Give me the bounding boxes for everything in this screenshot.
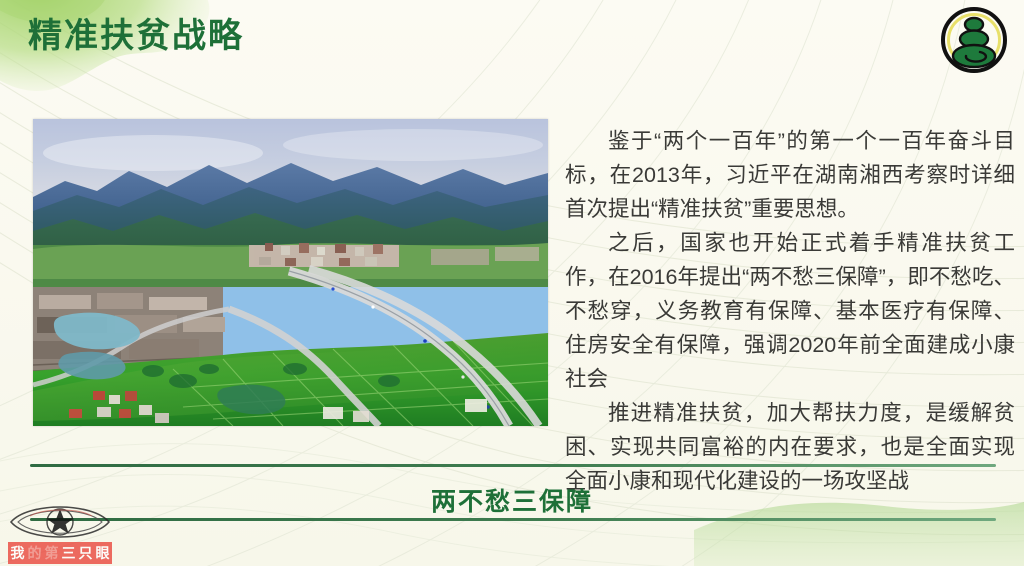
paragraph-2: 之后，国家也开始正式着手精准扶贫工作，在2016年提出“两不愁三保障”，即不愁吃…: [565, 226, 1015, 396]
body-copy: 鉴于“两个一百年”的第一个一百年奋斗目标，在2013年，习近平在湖南湘西考察时详…: [565, 124, 1015, 498]
paragraph-1: 鉴于“两个一百年”的第一个一百年奋斗目标，在2013年，习近平在湖南湘西考察时详…: [565, 124, 1015, 226]
wm-char-6: 眼: [96, 546, 110, 560]
page-title: 精准扶贫战略: [28, 16, 244, 57]
wm-char-3: 第: [45, 546, 59, 560]
divider-bottom: [30, 518, 996, 521]
watermark-band: 我 的 第 三 只 眼: [8, 542, 112, 564]
wm-char-1: 我: [11, 546, 25, 560]
wm-char-5: 只: [79, 546, 93, 560]
divider-top: [30, 464, 996, 467]
eye-with-star-icon: [8, 498, 112, 544]
wm-char-2: 的: [28, 546, 42, 560]
wm-char-4: 三: [62, 546, 76, 560]
footer-heading: 两不愁三保障: [0, 482, 1024, 518]
watermark: 我 的 第 三 只 眼: [2, 504, 120, 566]
stacked-stones-emblem-icon: [940, 6, 1008, 74]
slide-canvas: 精准扶贫战略: [0, 0, 1024, 566]
aerial-village-photo: [33, 119, 548, 426]
